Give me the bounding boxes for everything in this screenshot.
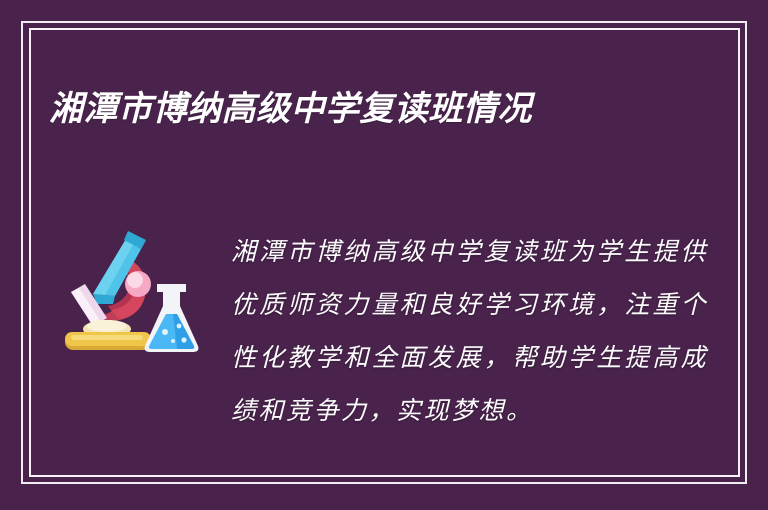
flask-bubble: [177, 324, 182, 329]
page-title: 湘潭市博纳高级中学复读班情况: [49, 87, 532, 131]
flask-bubble: [171, 339, 175, 343]
microscope-stage-highlight: [87, 320, 127, 332]
poster-canvas: 湘潭市博纳高级中学复读班情况: [0, 0, 768, 510]
microscope-base-highlight: [71, 335, 143, 340]
microscope-focus-knob-highlight: [127, 272, 143, 288]
content-row: 湘潭市博纳高级中学复读班为学生提供优质师资力量和良好学习环境，注重个性化教学和全…: [49, 200, 708, 462]
microscope-and-flask-illustration: [49, 222, 199, 362]
flask-bubble: [162, 329, 168, 335]
flask-bubble: [181, 337, 186, 342]
body-paragraph: 湘潭市博纳高级中学复读班为学生提供优质师资力量和良好学习环境，注重个性化教学和全…: [231, 225, 708, 437]
